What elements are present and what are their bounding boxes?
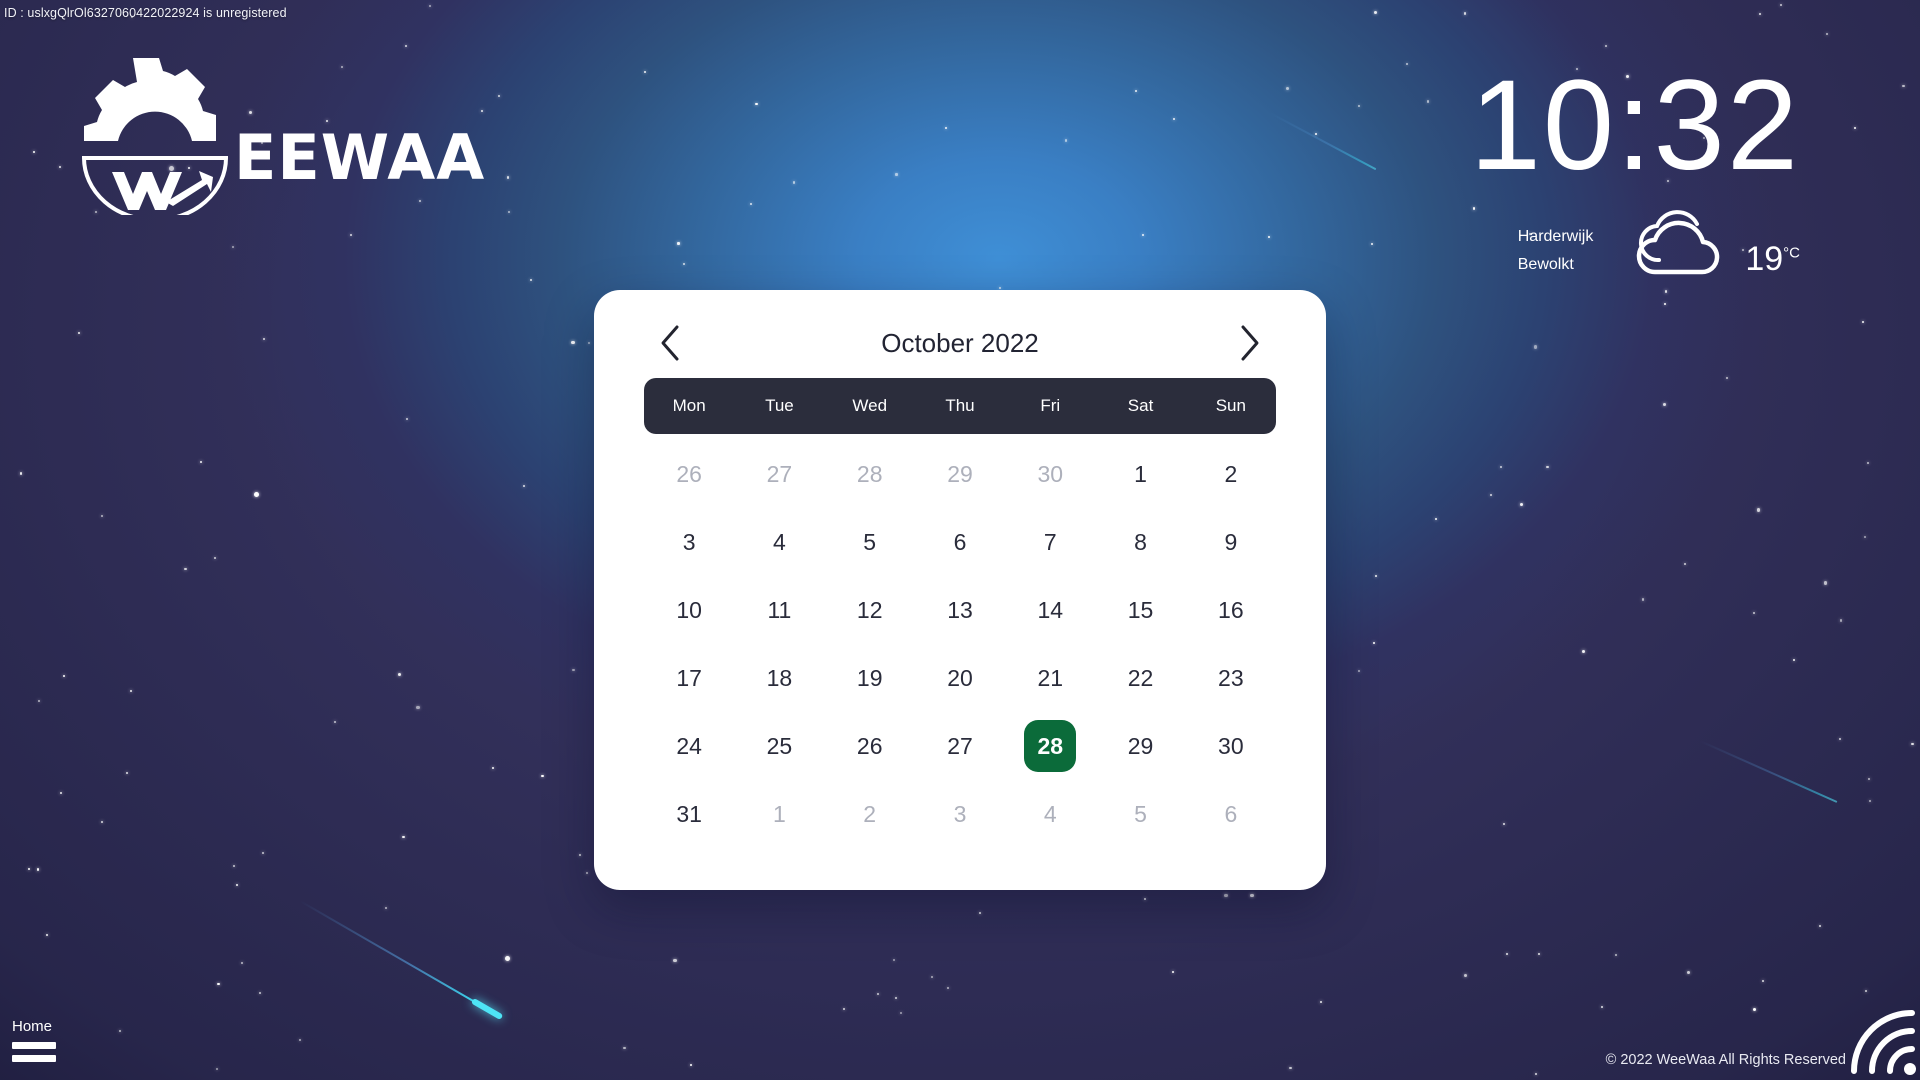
calendar-day[interactable]: 24 [663, 720, 715, 772]
calendar-day-cell: 14 [1005, 576, 1095, 644]
calendar-day[interactable]: 28 [844, 448, 896, 500]
calendar-day[interactable]: 22 [1115, 652, 1167, 704]
weather-temperature: 19°C [1745, 240, 1800, 281]
calendar-day-cell: 20 [915, 644, 1005, 712]
calendar-day-cell: 17 [644, 644, 734, 712]
calendar-day[interactable]: 4 [753, 516, 805, 568]
calendar-day-cell: 26 [825, 712, 915, 780]
calendar-day[interactable]: 9 [1205, 516, 1257, 568]
calendar-day-cell: 7 [1005, 508, 1095, 576]
calendar-day-cell: 1 [1095, 440, 1185, 508]
calendar-weekday-tue: Tue [734, 396, 824, 416]
calendar-day-cell: 12 [825, 576, 915, 644]
calendar-day-cell: 21 [1005, 644, 1095, 712]
weather-city: Harderwijk [1518, 223, 1594, 251]
calendar-day-cell: 5 [825, 508, 915, 576]
calendar-day[interactable]: 3 [934, 788, 986, 840]
calendar-day[interactable]: 8 [1115, 516, 1167, 568]
calendar-day-cell: 3 [915, 780, 1005, 848]
calendar-weekday-thu: Thu [915, 396, 1005, 416]
chevron-left-icon[interactable] [650, 320, 690, 366]
calendar-day[interactable]: 31 [663, 788, 715, 840]
calendar-day-cell: 28 [825, 440, 915, 508]
calendar-day[interactable]: 5 [1115, 788, 1167, 840]
shooting-star [300, 900, 500, 1017]
calendar-day-cell: 3 [644, 508, 734, 576]
calendar-day-cell: 27 [915, 712, 1005, 780]
calendar-day-cell: 13 [915, 576, 1005, 644]
calendar-day-cell: 9 [1186, 508, 1276, 576]
calendar-day-cell: 24 [644, 712, 734, 780]
weather-location-block: Harderwijk Bewolkt [1518, 223, 1594, 281]
calendar-day-selected[interactable]: 28 [1024, 720, 1076, 772]
calendar-day[interactable]: 1 [1115, 448, 1167, 500]
weather-widget: Harderwijk Bewolkt 19°C [1470, 208, 1800, 281]
calendar-day-cell: 25 [734, 712, 824, 780]
calendar-day-cell: 19 [825, 644, 915, 712]
calendar-day[interactable]: 2 [1205, 448, 1257, 500]
calendar-day[interactable]: 30 [1024, 448, 1076, 500]
calendar-day-cell: 23 [1186, 644, 1276, 712]
hamburger-menu-icon[interactable] [12, 1042, 56, 1062]
calendar-day[interactable]: 1 [753, 788, 805, 840]
calendar-day-cell: 18 [734, 644, 824, 712]
calendar-day-cell: 2 [825, 780, 915, 848]
shooting-star [1700, 740, 1838, 803]
calendar-day[interactable]: 11 [753, 584, 805, 636]
calendar-day-cell: 8 [1095, 508, 1185, 576]
calendar-weekday-mon: Mon [644, 396, 734, 416]
calendar-day[interactable]: 6 [934, 516, 986, 568]
calendar-header: October 2022 [644, 308, 1276, 378]
calendar-day-cell: 22 [1095, 644, 1185, 712]
calendar-day[interactable]: 15 [1115, 584, 1167, 636]
calendar-day-cell: 29 [915, 440, 1005, 508]
chevron-right-icon[interactable] [1230, 320, 1270, 366]
calendar-day[interactable]: 25 [753, 720, 805, 772]
calendar-day-cell: 31 [644, 780, 734, 848]
calendar-day[interactable]: 21 [1024, 652, 1076, 704]
calendar-day-cell: 28 [1005, 712, 1095, 780]
calendar-day[interactable]: 16 [1205, 584, 1257, 636]
weather-temperature-value: 19 [1745, 240, 1783, 278]
calendar-day-cell: 11 [734, 576, 824, 644]
wifi-signal-icon [1846, 1005, 1920, 1080]
calendar-day[interactable]: 19 [844, 652, 896, 704]
calendar-weekday-fri: Fri [1005, 396, 1095, 416]
shooting-star [1270, 112, 1377, 170]
weather-temperature-unit: °C [1783, 245, 1800, 262]
calendar-weekday-sun: Sun [1186, 396, 1276, 416]
calendar-day-cell: 6 [915, 508, 1005, 576]
calendar-day-grid: 2627282930123456789101112131415161718192… [644, 440, 1276, 848]
calendar-day[interactable]: 29 [1115, 720, 1167, 772]
clock-time: 10:32 [1470, 62, 1800, 190]
calendar-day[interactable]: 27 [934, 720, 986, 772]
calendar-day-cell: 6 [1186, 780, 1276, 848]
gear-bowl-w-arrow-logo-icon [70, 50, 240, 215]
calendar-day[interactable]: 17 [663, 652, 715, 704]
calendar-day[interactable]: 26 [663, 448, 715, 500]
calendar-day[interactable]: 13 [934, 584, 986, 636]
calendar-day-cell: 30 [1186, 712, 1276, 780]
calendar-weekday-sat: Sat [1095, 396, 1185, 416]
calendar-day[interactable]: 27 [753, 448, 805, 500]
calendar-day[interactable]: 30 [1205, 720, 1257, 772]
calendar-day[interactable]: 29 [934, 448, 986, 500]
calendar-day-cell: 5 [1095, 780, 1185, 848]
calendar-day[interactable]: 23 [1205, 652, 1257, 704]
calendar-day-cell: 27 [734, 440, 824, 508]
unregistered-watermark: ID : uslxgQlrOl6327060422022924 is unreg… [4, 6, 287, 20]
brand-name: EEWAA [234, 127, 485, 189]
calendar-day[interactable]: 26 [844, 720, 896, 772]
calendar-day-cell: 29 [1095, 712, 1185, 780]
calendar-card: October 2022 MonTueWedThuFriSatSun 26272… [594, 290, 1326, 890]
calendar-day[interactable]: 14 [1024, 584, 1076, 636]
calendar-day-cell: 4 [734, 508, 824, 576]
calendar-weekday-header: MonTueWedThuFriSatSun [644, 378, 1276, 434]
calendar-day-cell: 26 [644, 440, 734, 508]
copyright-text: © 2022 WeeWaa All Rights Reserved [1606, 1052, 1846, 1068]
calendar-day[interactable]: 7 [1024, 516, 1076, 568]
calendar-day[interactable]: 6 [1205, 788, 1257, 840]
calendar-day-cell: 2 [1186, 440, 1276, 508]
calendar-day-cell: 4 [1005, 780, 1095, 848]
calendar-weekday-wed: Wed [825, 396, 915, 416]
calendar-day[interactable]: 2 [844, 788, 896, 840]
calendar-day[interactable]: 18 [753, 652, 805, 704]
calendar-day-cell: 10 [644, 576, 734, 644]
calendar-day-cell: 16 [1186, 576, 1276, 644]
brand-logo: EEWAA [70, 50, 485, 215]
calendar-day[interactable]: 5 [844, 516, 896, 568]
calendar-day-cell: 1 [734, 780, 824, 848]
home-nav-button[interactable]: Home [12, 1018, 56, 1062]
calendar-day[interactable]: 3 [663, 516, 715, 568]
home-label: Home [12, 1018, 56, 1035]
calendar-day[interactable]: 10 [663, 584, 715, 636]
calendar-day-cell: 30 [1005, 440, 1095, 508]
calendar-day-cell: 15 [1095, 576, 1185, 644]
calendar-day[interactable]: 4 [1024, 788, 1076, 840]
clock-weather-widget: 10:32 Harderwijk Bewolkt 19°C [1470, 62, 1800, 281]
calendar-day[interactable]: 20 [934, 652, 986, 704]
weather-condition: Bewolkt [1518, 251, 1594, 279]
calendar-day[interactable]: 12 [844, 584, 896, 636]
cloudy-icon [1615, 208, 1723, 285]
calendar-month-title: October 2022 [881, 328, 1039, 359]
